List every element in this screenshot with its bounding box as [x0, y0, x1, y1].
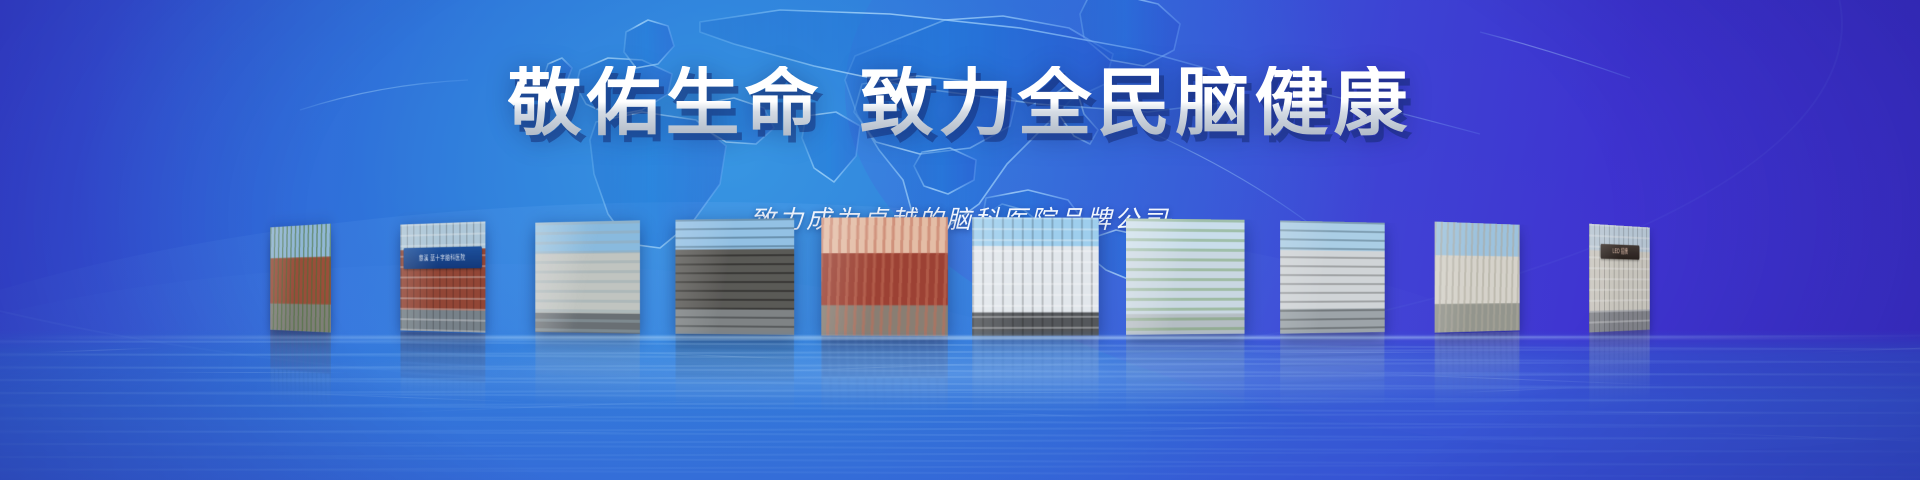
gallery-photo-image	[1435, 222, 1520, 333]
water-band	[0, 455, 1920, 467]
water-streak	[512, 432, 632, 433]
water-band	[0, 365, 1920, 377]
water-band	[0, 416, 1920, 428]
headline-container: 敬佑生命致力全民脑健康	[0, 66, 1920, 140]
water-band	[0, 360, 1920, 370]
water-band	[0, 411, 1920, 421]
gallery-photo-reflection	[675, 334, 794, 413]
water-streak	[158, 372, 348, 373]
water-band	[0, 424, 1920, 434]
water-streak	[1338, 372, 1668, 386]
gallery-photo-dark-tower-building[interactable]	[675, 218, 794, 334]
gallery-photo-reflection	[973, 335, 1100, 413]
gallery-photo-hospital-campus-aerial[interactable]	[270, 224, 331, 333]
water-streak	[1456, 387, 1576, 393]
hospital-photo-gallery: 慈溪 蓝十字脑科医院LED 招牌	[0, 216, 1920, 356]
gallery-photo-image	[270, 224, 331, 333]
gallery-photo-glare	[973, 217, 1100, 336]
gallery-photo-cixi-blue-cross-brain-hospital[interactable]: 慈溪 蓝十字脑科医院	[400, 222, 485, 333]
water-band	[0, 442, 1920, 454]
gallery-photo-reflection-image	[675, 334, 794, 413]
gallery-photo-image	[1280, 220, 1385, 334]
water-band	[0, 429, 1920, 441]
water-streak	[1692, 432, 1920, 443]
gallery-photo-reflection-image	[1435, 331, 1520, 411]
gallery-photo-reflection-image	[1126, 334, 1245, 413]
gallery-photo-reflection	[1126, 334, 1245, 413]
gallery-photo-glare	[1280, 220, 1385, 334]
page-title: 敬佑生命致力全民脑健康	[508, 66, 1413, 140]
gallery-photo-reflection	[1280, 332, 1385, 411]
gallery-photo-red-brick-hospital-complex[interactable]	[821, 217, 948, 336]
gallery-photo-reflection	[270, 330, 331, 410]
water-streak	[1574, 412, 1764, 413]
water-streak	[394, 399, 724, 413]
water-band	[0, 398, 1920, 408]
gallery-photo-glare	[675, 218, 794, 334]
water-streak	[748, 362, 1008, 373]
water-band	[0, 391, 1920, 403]
water-band	[0, 403, 1920, 415]
gallery-photo-image	[400, 222, 485, 333]
gallery-photo-image	[821, 217, 948, 336]
gallery-photo-hospital-masterplan-rendering[interactable]	[1126, 218, 1245, 334]
gallery-photo-white-hospital-with-red-cross[interactable]	[973, 217, 1100, 336]
gallery-photo-reflection-image	[270, 330, 331, 410]
gallery-photo-reflection-image	[973, 335, 1100, 413]
water-streak	[276, 392, 536, 403]
gallery-photo-glare	[821, 217, 948, 336]
gallery-photo-image	[1589, 224, 1650, 333]
gallery-photo-reflection	[535, 332, 640, 411]
gallery-photo-image	[1126, 218, 1245, 334]
gallery-photo-reflection	[1435, 331, 1520, 411]
gallery-photo-hospital-entrance-rendering[interactable]: LED 招牌	[1589, 224, 1650, 333]
gallery-photo-reflection	[1589, 330, 1650, 410]
water-band	[0, 378, 1920, 390]
water-band	[0, 467, 1920, 479]
gallery-photo-reflection-image	[1589, 330, 1650, 410]
water-streak	[866, 392, 1196, 393]
gallery-photo-reflection-image	[821, 335, 948, 413]
water-band	[0, 385, 1920, 395]
water-streak	[984, 412, 1104, 418]
gallery-photo-signboard: LED 招牌	[1601, 244, 1640, 260]
gallery-photo-white-tower-rendering[interactable]	[1435, 222, 1520, 333]
gallery-photo-image	[973, 217, 1100, 336]
gallery-photo-reflection-image	[1280, 332, 1385, 411]
gallery-photo-glare	[1126, 218, 1245, 334]
water-band	[0, 449, 1920, 459]
gallery-photo-glare	[1435, 222, 1520, 333]
water-band	[0, 462, 1920, 472]
gallery-photo-reflection-image	[535, 332, 640, 411]
gallery-photo-glare	[270, 224, 331, 333]
gallery-photo-glare	[535, 220, 640, 334]
gallery-photo-reflection-image	[400, 331, 485, 411]
gallery-photo-modern-highrise-hospital[interactable]	[1280, 220, 1385, 334]
gallery-photo-reflection	[821, 335, 948, 413]
water-streak	[1102, 425, 1292, 433]
hospital-brand-banner: 敬佑生命致力全民脑健康 致力成为卓越的脑科医院品牌公司 慈溪 蓝十字脑科医院LE…	[0, 0, 1920, 480]
headline-part-1: 敬佑生命	[508, 61, 824, 144]
water-band	[0, 436, 1920, 446]
gallery-photo-image	[535, 220, 640, 334]
headline-part-2: 致力全民脑健康	[860, 61, 1413, 144]
gallery-photo-glare	[400, 222, 485, 333]
gallery-photo-signboard: 慈溪 蓝十字脑科医院	[404, 246, 482, 269]
gallery-photo-reflection	[400, 331, 485, 411]
gallery-photo-image	[675, 218, 794, 334]
gallery-photo-glare	[1589, 224, 1650, 333]
water-band	[0, 372, 1920, 382]
gallery-photo-hospital-street-view[interactable]	[535, 220, 640, 334]
